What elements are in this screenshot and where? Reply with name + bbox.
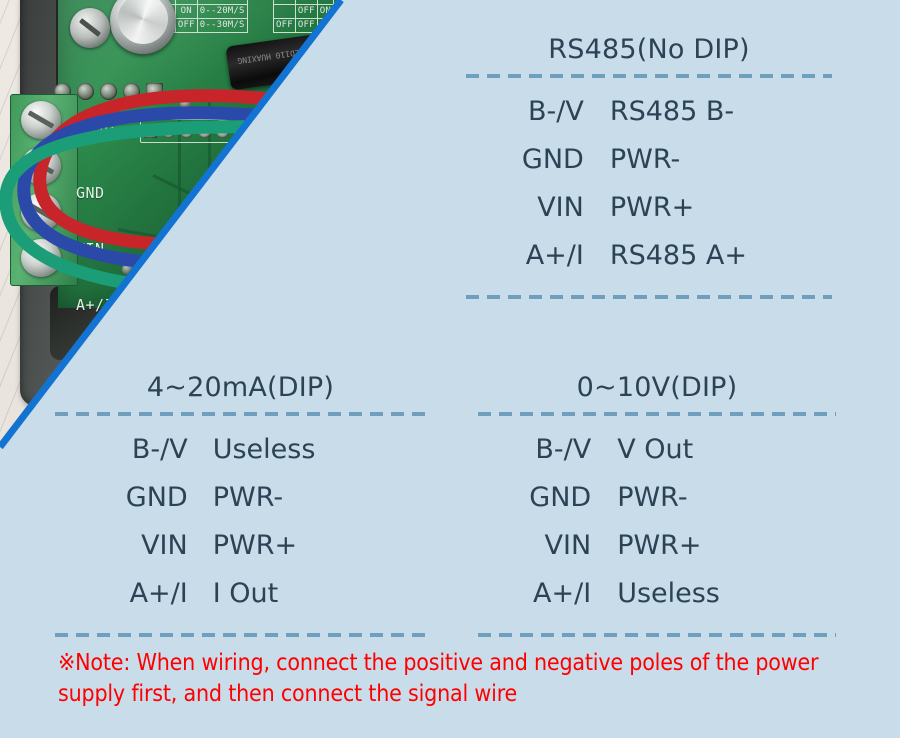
panel-0-10v: 0~10V(DIP) B-/V V Out GND PWR- VIN PWR+ …: [478, 372, 836, 637]
terminal-name: B-/V: [55, 426, 188, 474]
panel-rule-bottom: [55, 633, 426, 637]
dip-cell: OFF: [295, 5, 317, 19]
dip-cell: OFF: [175, 19, 197, 33]
table-row: A+/I Useless: [478, 570, 836, 618]
table-row: GND PWR-: [55, 474, 426, 522]
terminal-function: PWR-: [591, 474, 836, 522]
terminal-name: VIN: [478, 522, 591, 570]
terminal-function: PWR+: [188, 522, 426, 570]
wiring-diagram-page: 3 4 RANGE ON ON 0--10M/S OFF ON 0--20M/S: [0, 0, 900, 738]
panel-4-20ma: 4~20mA(DIP) B-/V Useless GND PWR- VIN PW…: [55, 372, 426, 637]
dip-cell: O: [317, 19, 333, 33]
table-row: GND PWR-: [478, 474, 836, 522]
dip-cell: 0--20M/S: [197, 5, 247, 19]
terminal-function: Useless: [591, 570, 836, 618]
terminal-function: PWR+: [591, 522, 836, 570]
dip-cell: [274, 5, 296, 19]
terminal-function: PWR-: [584, 136, 832, 184]
connection-wires: [0, 63, 318, 313]
terminal-name: GND: [466, 136, 584, 184]
table-row: GND PWR-: [466, 136, 832, 184]
table-row: VIN PWR+: [478, 522, 836, 570]
pinout-rows-4-20ma: B-/V Useless GND PWR- VIN PWR+ A+/I I Ou…: [55, 416, 426, 624]
table-row: A+/I RS485 A+: [466, 232, 832, 280]
board-screw: [70, 8, 110, 48]
terminal-function: I Out: [188, 570, 426, 618]
terminal-name: A+/I: [478, 570, 591, 618]
terminal-name: GND: [478, 474, 591, 522]
terminal-name: B-/V: [466, 88, 584, 136]
table-row: B-/V RS485 B-: [466, 88, 832, 136]
pinout-rows-rs485: B-/V RS485 B- GND PWR- VIN PWR+ A+/I RS4…: [466, 78, 832, 286]
table-row: B-/V V Out: [478, 426, 836, 474]
terminal-name: B-/V: [478, 426, 591, 474]
terminal-function: Useless: [188, 426, 426, 474]
terminal-function: PWR-: [188, 474, 426, 522]
terminal-name: GND: [55, 474, 188, 522]
terminal-name: A+/I: [466, 232, 584, 280]
dip-cell: OFF: [295, 19, 317, 33]
wiring-note: ※Note: When wiring, connect the positive…: [58, 648, 858, 710]
dip-cell: 0--30M/S: [197, 19, 247, 33]
table-row: VIN PWR+: [466, 184, 832, 232]
dip-cell: ON: [175, 5, 197, 19]
terminal-name: A+/I: [55, 570, 188, 618]
table-row: B-/V Useless: [55, 426, 426, 474]
terminal-function: RS485 A+: [584, 232, 832, 280]
mount-hole: [98, 306, 138, 342]
table-row: VIN PWR+: [55, 522, 426, 570]
panel-rule-bottom: [478, 633, 836, 637]
dip-cell: ON: [317, 5, 333, 19]
circuit-board: 3 4 RANGE ON ON 0--10M/S OFF ON 0--20M/S: [58, 0, 345, 308]
pinout-rows-0-10v: B-/V V Out GND PWR- VIN PWR+ A+/I Useles…: [478, 416, 836, 624]
panel-rs485: RS485(No DIP) B-/V RS485 B- GND PWR- VIN…: [466, 34, 832, 299]
panel-title-4-20ma: 4~20mA(DIP): [55, 372, 426, 403]
table-row: A+/I I Out: [55, 570, 426, 618]
terminal-function: V Out: [591, 426, 836, 474]
panel-title-0-10v: 0~10V(DIP): [478, 372, 836, 403]
terminal-function: PWR+: [584, 184, 832, 232]
panel-rule-bottom: [466, 295, 832, 299]
dip-cell: OFF: [274, 19, 296, 33]
terminal-function: RS485 B-: [584, 88, 832, 136]
terminal-name: VIN: [466, 184, 584, 232]
panel-title-rs485: RS485(No DIP): [466, 34, 832, 65]
terminal-name: VIN: [55, 522, 188, 570]
dip-cell: 0--10M/S: [197, 0, 247, 5]
silkscreen-dip-table-mode: 5 1 2 ON ON ON OFF ON OFF: [273, 0, 334, 33]
